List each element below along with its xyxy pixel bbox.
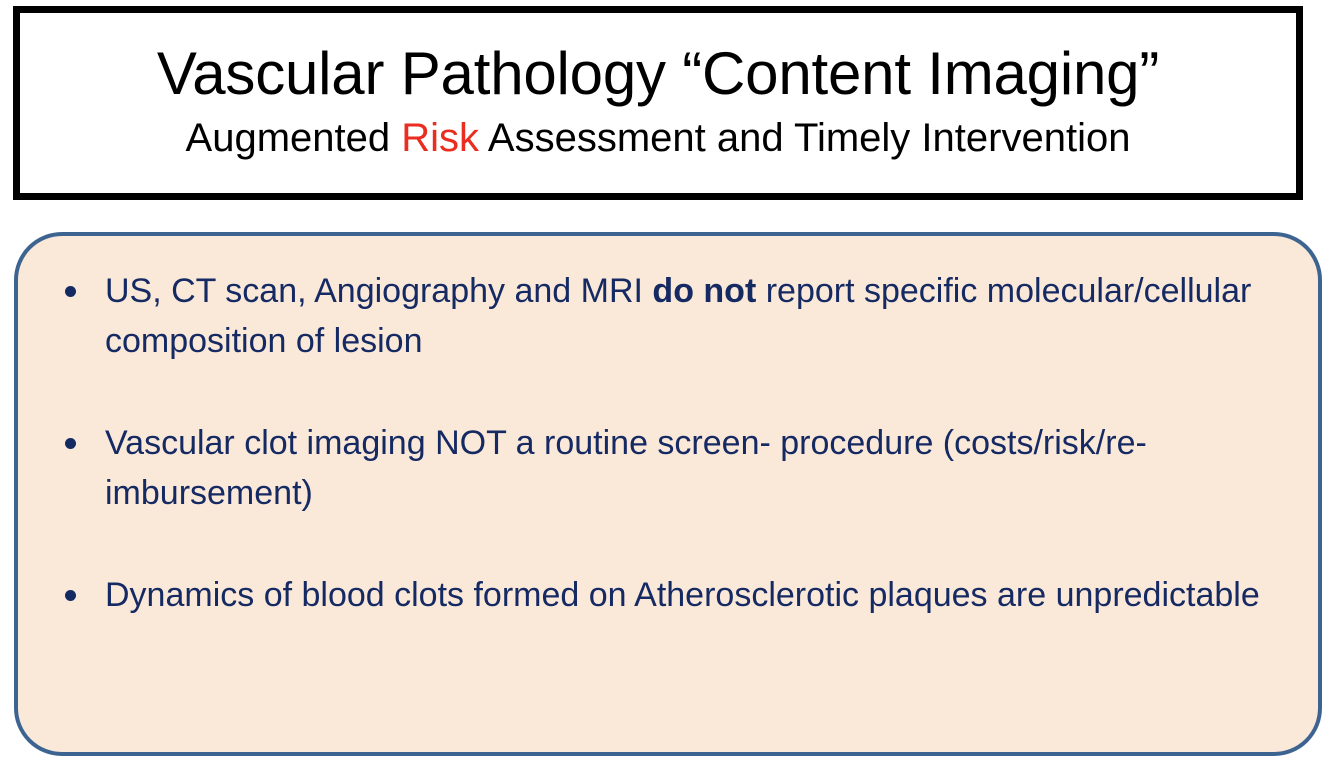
title-box: Vascular Pathology “Content Imaging” Aug… xyxy=(13,6,1303,200)
subtitle-accent-risk: Risk xyxy=(401,116,479,160)
page-subtitle: Augmented Risk Assessment and Timely Int… xyxy=(186,116,1131,160)
list-item-text: US, CT scan, Angiography and MRI do not … xyxy=(105,266,1265,366)
content-panel: US, CT scan, Angiography and MRI do not … xyxy=(14,232,1322,756)
list-item-emphasis: do not xyxy=(652,272,756,310)
bullet-dot-icon xyxy=(65,286,76,297)
list-item: Dynamics of blood clots formed on Athero… xyxy=(52,570,1278,620)
page-title: Vascular Pathology “Content Imaging” xyxy=(157,42,1159,106)
bullet-dot-icon xyxy=(65,590,76,601)
list-item-text: Dynamics of blood clots formed on Athero… xyxy=(105,570,1265,620)
list-item-text-part1: Vascular clot imaging NOT a routine scre… xyxy=(105,424,1147,512)
subtitle-prefix: Augmented xyxy=(186,116,402,160)
list-item: US, CT scan, Angiography and MRI do not … xyxy=(52,266,1278,366)
bullet-dot-icon xyxy=(65,438,76,449)
subtitle-suffix: Assessment and Timely Intervention xyxy=(479,116,1130,160)
list-item: Vascular clot imaging NOT a routine scre… xyxy=(52,418,1278,518)
list-item-text-part1: Dynamics of blood clots formed on Athero… xyxy=(105,576,1260,614)
bullet-list: US, CT scan, Angiography and MRI do not … xyxy=(52,266,1278,620)
list-item-text-part1: US, CT scan, Angiography and MRI xyxy=(105,272,652,310)
list-item-text: Vascular clot imaging NOT a routine scre… xyxy=(105,418,1265,518)
